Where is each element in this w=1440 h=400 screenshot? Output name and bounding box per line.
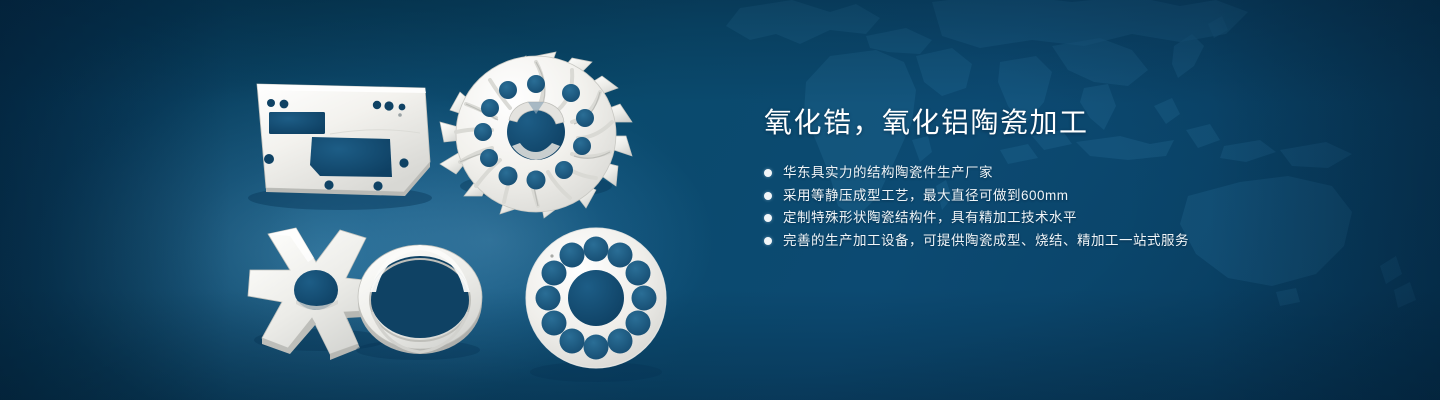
page-title: 氧化锆，氧化铝陶瓷加工: [764, 106, 1384, 140]
list-item: 华东具实力的结构陶瓷件生产厂家: [764, 162, 1384, 184]
feature-list: 华东具实力的结构陶瓷件生产厂家 采用等静压成型工艺，最大直径可做到600mm 定…: [764, 162, 1384, 252]
feature-text: 华东具实力的结构陶瓷件生产厂家: [783, 162, 993, 184]
list-item: 采用等静压成型工艺，最大直径可做到600mm: [764, 185, 1384, 207]
ceramic-impeller-rotor: [440, 52, 632, 218]
bullet-dot-icon: [764, 169, 772, 177]
bullet-dot-icon: [764, 192, 772, 200]
bullet-dot-icon: [764, 237, 772, 245]
feature-text: 完善的生产加工设备，可提供陶瓷成型、烧结、精加工一站式服务: [783, 230, 1189, 252]
feature-text: 定制特殊形状陶瓷结构件，具有精加工技术水平: [783, 207, 1077, 229]
banner-copy: 氧化锆，氧化铝陶瓷加工 华东具实力的结构陶瓷件生产厂家 采用等静压成型工艺，最大…: [764, 106, 1384, 252]
hero-banner: 氧化锆，氧化铝陶瓷加工 华东具实力的结构陶瓷件生产厂家 采用等静压成型工艺，最大…: [0, 0, 1440, 400]
ceramic-holed-disc: [526, 228, 666, 382]
bullet-dot-icon: [764, 214, 772, 222]
feature-text: 采用等静压成型工艺，最大直径可做到600mm: [783, 185, 1069, 207]
list-item: 完善的生产加工设备，可提供陶瓷成型、烧结、精加工一站式服务: [764, 230, 1384, 252]
product-photo-cluster: [0, 0, 720, 400]
list-item: 定制特殊形状陶瓷结构件，具有精加工技术水平: [764, 207, 1384, 229]
ceramic-flat-plate: [248, 84, 432, 210]
